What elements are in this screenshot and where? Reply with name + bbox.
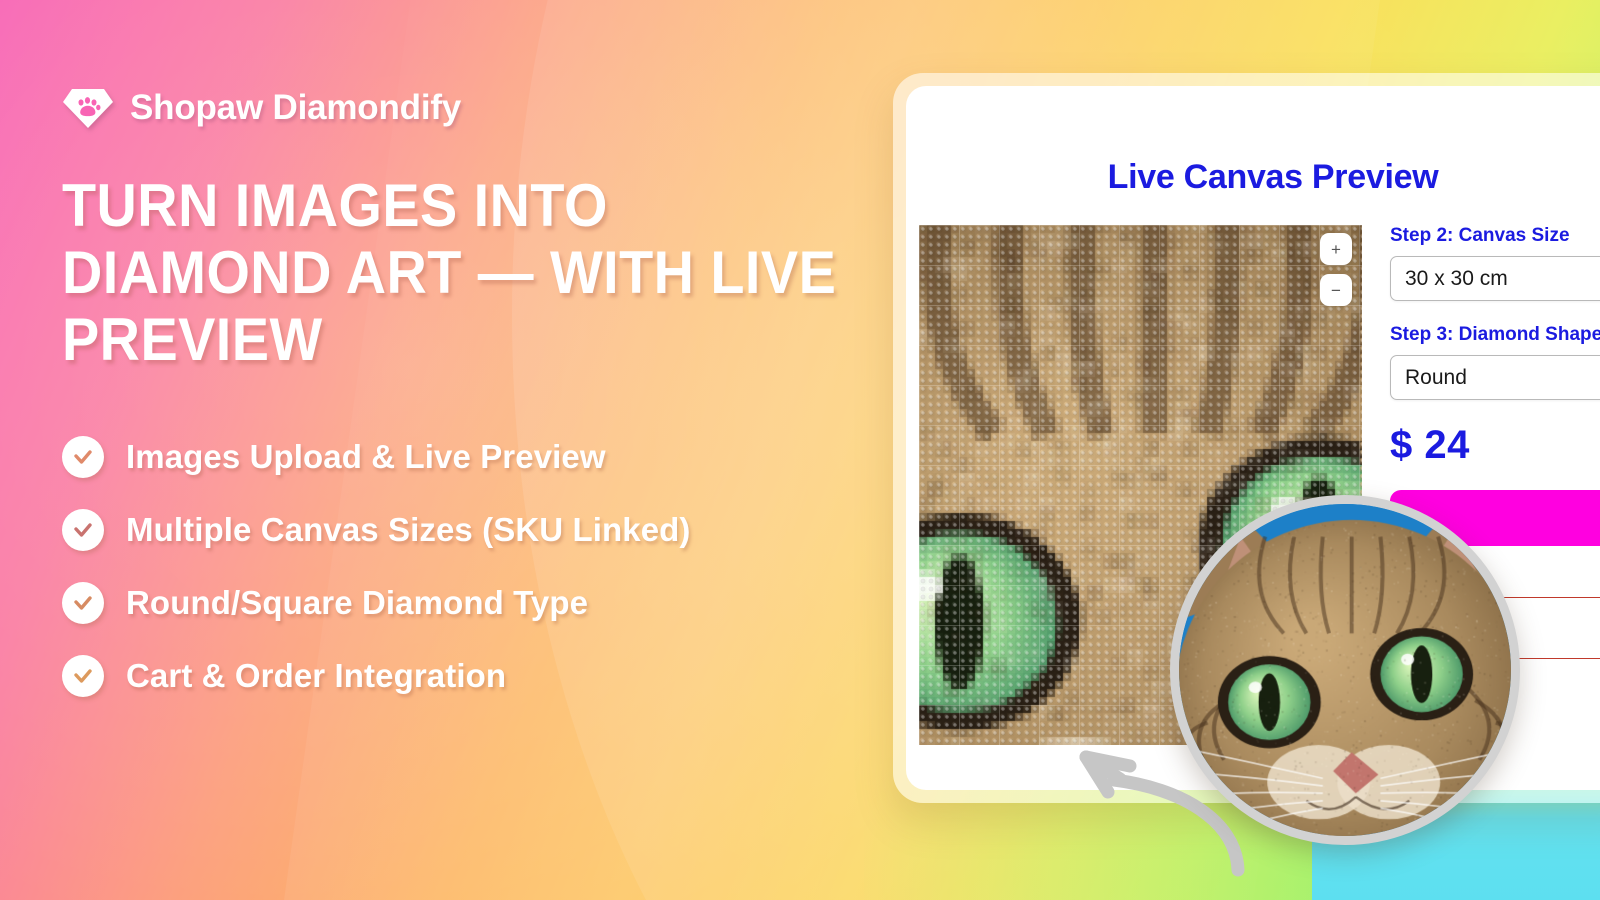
original-photo-canvas [1179,504,1511,836]
list-item: Images Upload & Live Preview [62,436,922,478]
zoom-controls[interactable]: + − [1320,233,1352,306]
brand-name: Shopaw Diamondify [130,88,461,128]
check-circle-icon [62,655,104,697]
list-item-label: Multiple Canvas Sizes (SKU Linked) [126,511,691,549]
hero-banner: Shopaw Diamondify Turn Images Into Diamo… [0,0,1600,900]
zoom-in-button[interactable]: + [1320,233,1352,265]
page-title: Turn Images Into Diamond Art — With Live… [62,172,862,374]
zoom-out-button[interactable]: − [1320,274,1352,306]
canvas-size-label: Step 2: Canvas Size [1390,225,1600,247]
list-item-label: Images Upload & Live Preview [126,438,606,476]
diamond-paw-icon [62,86,114,130]
list-item: Multiple Canvas Sizes (SKU Linked) [62,509,922,551]
check-circle-icon [62,509,104,551]
diamond-shape-label: Step 3: Diamond Shape [1390,324,1600,346]
cat-photo-thumbnail [1170,495,1520,845]
canvas-size-select[interactable]: 30 x 30 cm [1390,256,1600,301]
list-item: Round/Square Diamond Type [62,582,922,624]
diamond-shape-select[interactable]: Round [1390,355,1600,400]
list-item: Cart & Order Integration [62,655,922,697]
check-circle-icon [62,436,104,478]
list-item-label: Cart & Order Integration [126,657,506,695]
list-item-label: Round/Square Diamond Type [126,584,588,622]
hero-text-column: Shopaw Diamondify Turn Images Into Diamo… [62,86,922,697]
brand-lockup: Shopaw Diamondify [62,86,922,130]
feature-list: Images Upload & Live Preview Multiple Ca… [62,436,922,697]
price-value: $ 24 [1390,423,1600,468]
app-title: Live Canvas Preview [906,158,1600,197]
check-circle-icon [62,582,104,624]
